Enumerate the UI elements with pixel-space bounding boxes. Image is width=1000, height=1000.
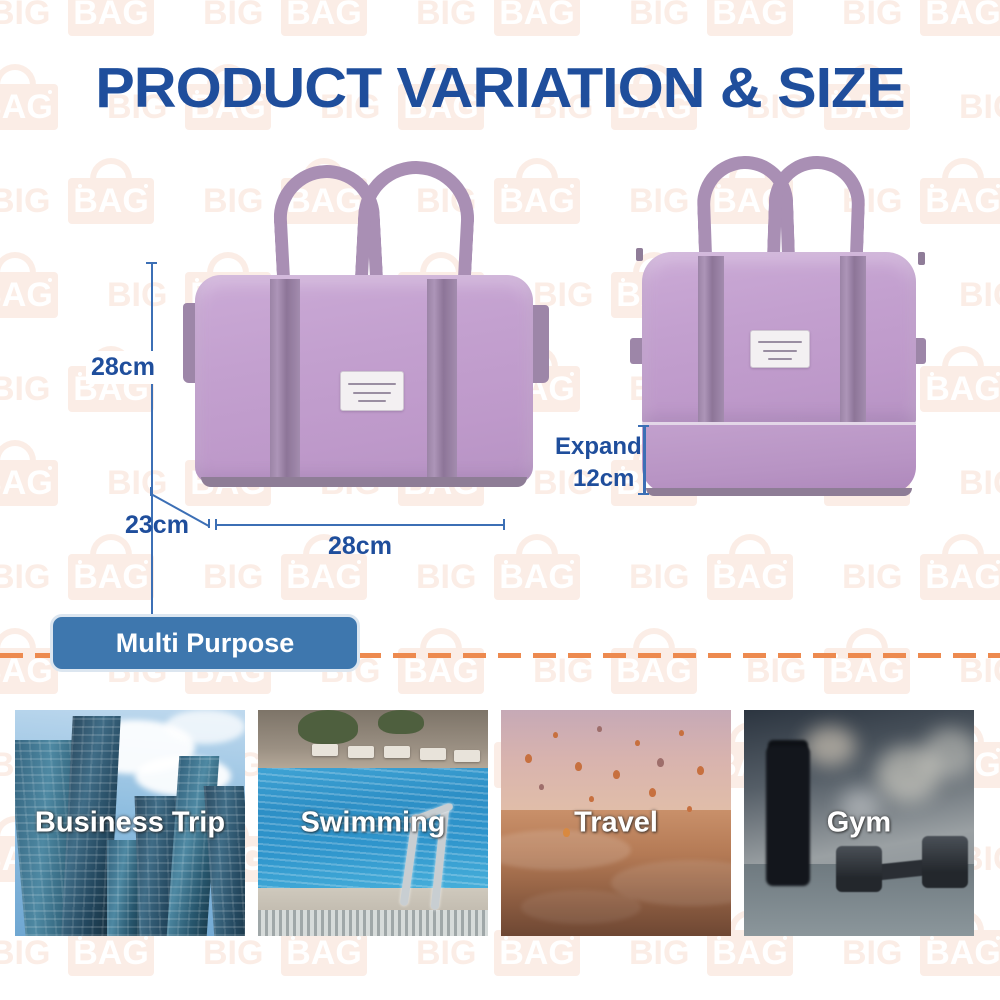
watermark-big-text: BIG	[203, 936, 263, 970]
use-case-gallery: Business Trip Swimming	[15, 710, 985, 936]
shopping-bag-icon-body	[68, 930, 154, 976]
dashed-line-right	[358, 653, 1000, 658]
expanded-duffel-bag	[600, 148, 960, 538]
dimension-expand-cap-bottom	[638, 493, 649, 495]
watermark-bag-text: BAG	[709, 0, 791, 30]
watermark-bigbag: BIGBAG	[0, 0, 203, 38]
page-title: PRODUCT VARIATION & SIZE	[0, 55, 1000, 121]
zip-pull-right	[918, 252, 925, 265]
watermark-bag-text: BAG	[496, 936, 578, 970]
watermark-big-text: BIG	[416, 0, 476, 30]
shopping-bag-icon-body	[281, 930, 367, 976]
watermark-row: BIGBAGBIGBAGBIGBAGBIGBAGBIGBAGBIGBAG	[0, 0, 1000, 38]
watermark-bag-text: BAG	[922, 936, 1000, 970]
watermark-bag-text: BAG	[283, 936, 365, 970]
dimension-depth-cap-end	[208, 519, 210, 528]
multi-purpose-badge: Multi Purpose	[50, 614, 360, 672]
dimension-width-cap-left	[215, 519, 217, 530]
multi-purpose-badge-label: Multi Purpose	[116, 628, 295, 659]
shopping-bag-icon-body	[920, 0, 1000, 36]
shopping-bag-icon-body	[920, 930, 1000, 976]
watermark-bag-text: BAG	[709, 936, 791, 970]
dimension-width-label: 28cm	[328, 532, 392, 561]
watermark-bag-text: BAG	[70, 0, 152, 30]
dimension-expand-label-line1: Expand	[555, 433, 642, 461]
watermark-big-text: BIG	[203, 0, 263, 30]
watermark-bigbag: BIGBAG	[416, 0, 629, 38]
watermark-big-text: BIG	[629, 0, 689, 30]
watermark-bag-text: BAG	[70, 936, 152, 970]
dimension-expand-line	[643, 425, 646, 495]
watermark-big-text: BIG	[416, 936, 476, 970]
shopping-bag-icon-body	[707, 930, 793, 976]
use-case-label: Travel	[501, 807, 731, 840]
folded-duffel-bag	[175, 155, 555, 530]
watermark-bigbag: BIGBAG	[203, 0, 416, 38]
strap-front-left	[270, 279, 300, 483]
watermark-bigbag: BIGBAG	[629, 0, 842, 38]
shopping-bag-icon-body	[68, 0, 154, 36]
watermark-big-text: BIG	[0, 0, 50, 30]
watermark-big-text: BIG	[629, 936, 689, 970]
use-case-label: Business Trip	[15, 807, 245, 840]
watermark-bigbag: BIGBAG	[842, 0, 1000, 38]
watermark-bag-text: BAG	[283, 0, 365, 30]
dimension-expand-label-line2: 12cm	[573, 465, 634, 493]
product-showcase: 28cm 23cm 28cm Expand 12cm	[0, 140, 1000, 570]
watermark-bag-text: BAG	[496, 0, 578, 30]
watermark-bag-text: BAG	[922, 0, 1000, 30]
shopping-bag-icon-body	[494, 0, 580, 36]
strap-front-right	[840, 256, 866, 424]
watermark-big-text: BIG	[0, 936, 50, 970]
strap-front-right	[427, 279, 457, 483]
dimension-width-cap-right	[503, 519, 505, 530]
product-infographic: BIGBAGBIGBAGBIGBAGBIGBAGBIGBAGBIGBAGBIGB…	[0, 0, 1000, 1000]
zip-pull-left	[636, 248, 643, 261]
dimension-height-cap-top	[146, 262, 157, 264]
bag-base	[201, 477, 527, 487]
bag-base	[646, 488, 912, 496]
dimension-height-label: 28cm	[86, 351, 160, 384]
dimension-width-line	[215, 524, 505, 526]
expansion-compartment	[642, 425, 916, 493]
dimension-expand-cap-top	[638, 425, 649, 427]
shopping-bag-icon-body	[707, 0, 793, 36]
strap-front-left	[698, 256, 724, 424]
watermark-big-text: BIG	[842, 0, 902, 30]
dashed-line-left	[0, 653, 52, 658]
use-case-card-business-trip[interactable]: Business Trip	[15, 710, 245, 936]
shopping-bag-icon-body	[281, 0, 367, 36]
dimension-height-line	[151, 262, 153, 632]
use-case-label: Swimming	[258, 807, 488, 840]
shopping-bag-icon-body	[494, 930, 580, 976]
use-case-label: Gym	[744, 807, 974, 840]
brand-label-patch	[340, 371, 404, 411]
use-case-card-travel[interactable]: Travel	[501, 710, 731, 936]
watermark-big-text: BIG	[842, 936, 902, 970]
dimension-depth-label: 23cm	[125, 511, 189, 540]
brand-label-patch	[750, 330, 810, 368]
use-case-card-gym[interactable]: Gym	[744, 710, 974, 936]
use-case-card-swimming[interactable]: Swimming	[258, 710, 488, 936]
